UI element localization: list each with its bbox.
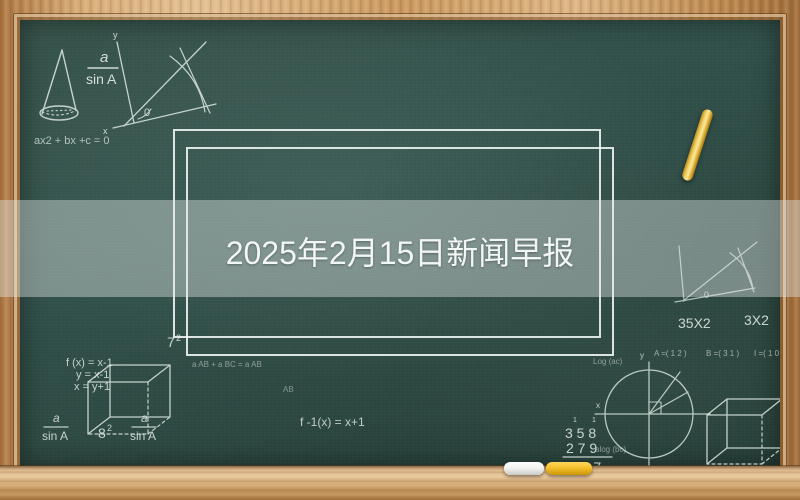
svg-text:1: 1	[592, 417, 596, 424]
function-equations: f (x) = x-1 y = x-1 x = y+1	[66, 357, 113, 393]
svg-text:2: 2	[107, 423, 112, 433]
svg-text:x = y+1: x = y+1	[74, 381, 110, 393]
svg-text:x: x	[596, 401, 600, 410]
svg-text:sin A: sin A	[86, 71, 117, 87]
page-title: 2025年2月15日新闻早报	[0, 231, 800, 275]
formula-a-over-sina: a sin A	[86, 49, 118, 87]
column-addition: 1 1 3 5 8 2 7 9 6 3 7	[563, 417, 612, 466]
formula-a-over-sina-3: a sin A	[130, 411, 156, 443]
wireframe-cube-right-icon	[707, 399, 780, 464]
chalk-stick-yellow-tray	[546, 462, 592, 475]
cone-icon	[40, 50, 78, 120]
mult-35x2: 35X2	[678, 315, 711, 331]
svg-text:A =( 1 2 ): A =( 1 2 )	[654, 349, 687, 358]
misc-equation: a AB + a BC = a AB	[192, 360, 262, 369]
chalkboard-banner-scene: a sin A y x 0 ax2 + bx +c = 0	[0, 0, 800, 500]
chalk-stick-white-tray	[504, 462, 544, 475]
svg-text:0: 0	[144, 107, 150, 119]
svg-text:I =( 1 0 ): I =( 1 0 )	[754, 349, 780, 358]
svg-text:AB: AB	[283, 385, 294, 394]
svg-text:a: a	[100, 49, 108, 66]
svg-text:3 5 8: 3 5 8	[565, 425, 596, 441]
formula-quadratic: ax2 + bx +c = 0	[34, 135, 110, 147]
chalk-tray	[0, 466, 800, 500]
formula-a-over-sina-2: a sin A	[42, 411, 68, 443]
alog-label: alog (bc)	[595, 445, 626, 454]
svg-text:2 7 9: 2 7 9	[566, 440, 597, 456]
svg-text:1: 1	[573, 417, 577, 424]
svg-text:B =( 3 1 ): B =( 3 1 )	[706, 349, 739, 358]
log-label: Log (ac)	[593, 357, 623, 366]
svg-text:a: a	[53, 411, 60, 425]
mult-3x2: 3X2	[744, 312, 769, 328]
svg-text:sin A: sin A	[42, 429, 68, 443]
svg-text:f (x) = x-1: f (x) = x-1	[66, 357, 113, 369]
matrix-notations: A =( 1 2 ) B =( 3 1 ) I =( 1 0 )	[654, 349, 780, 358]
angle-diagram-left: y x 0	[103, 30, 216, 136]
formula-inverse-function: f -1(x) = x+1	[300, 415, 365, 429]
svg-text:y: y	[113, 30, 118, 40]
svg-text:sin A: sin A	[130, 429, 156, 443]
svg-text:y: y	[640, 351, 644, 360]
svg-text:a: a	[141, 411, 148, 425]
svg-text:0: 0	[704, 290, 709, 300]
power-eight: 8	[98, 425, 106, 441]
